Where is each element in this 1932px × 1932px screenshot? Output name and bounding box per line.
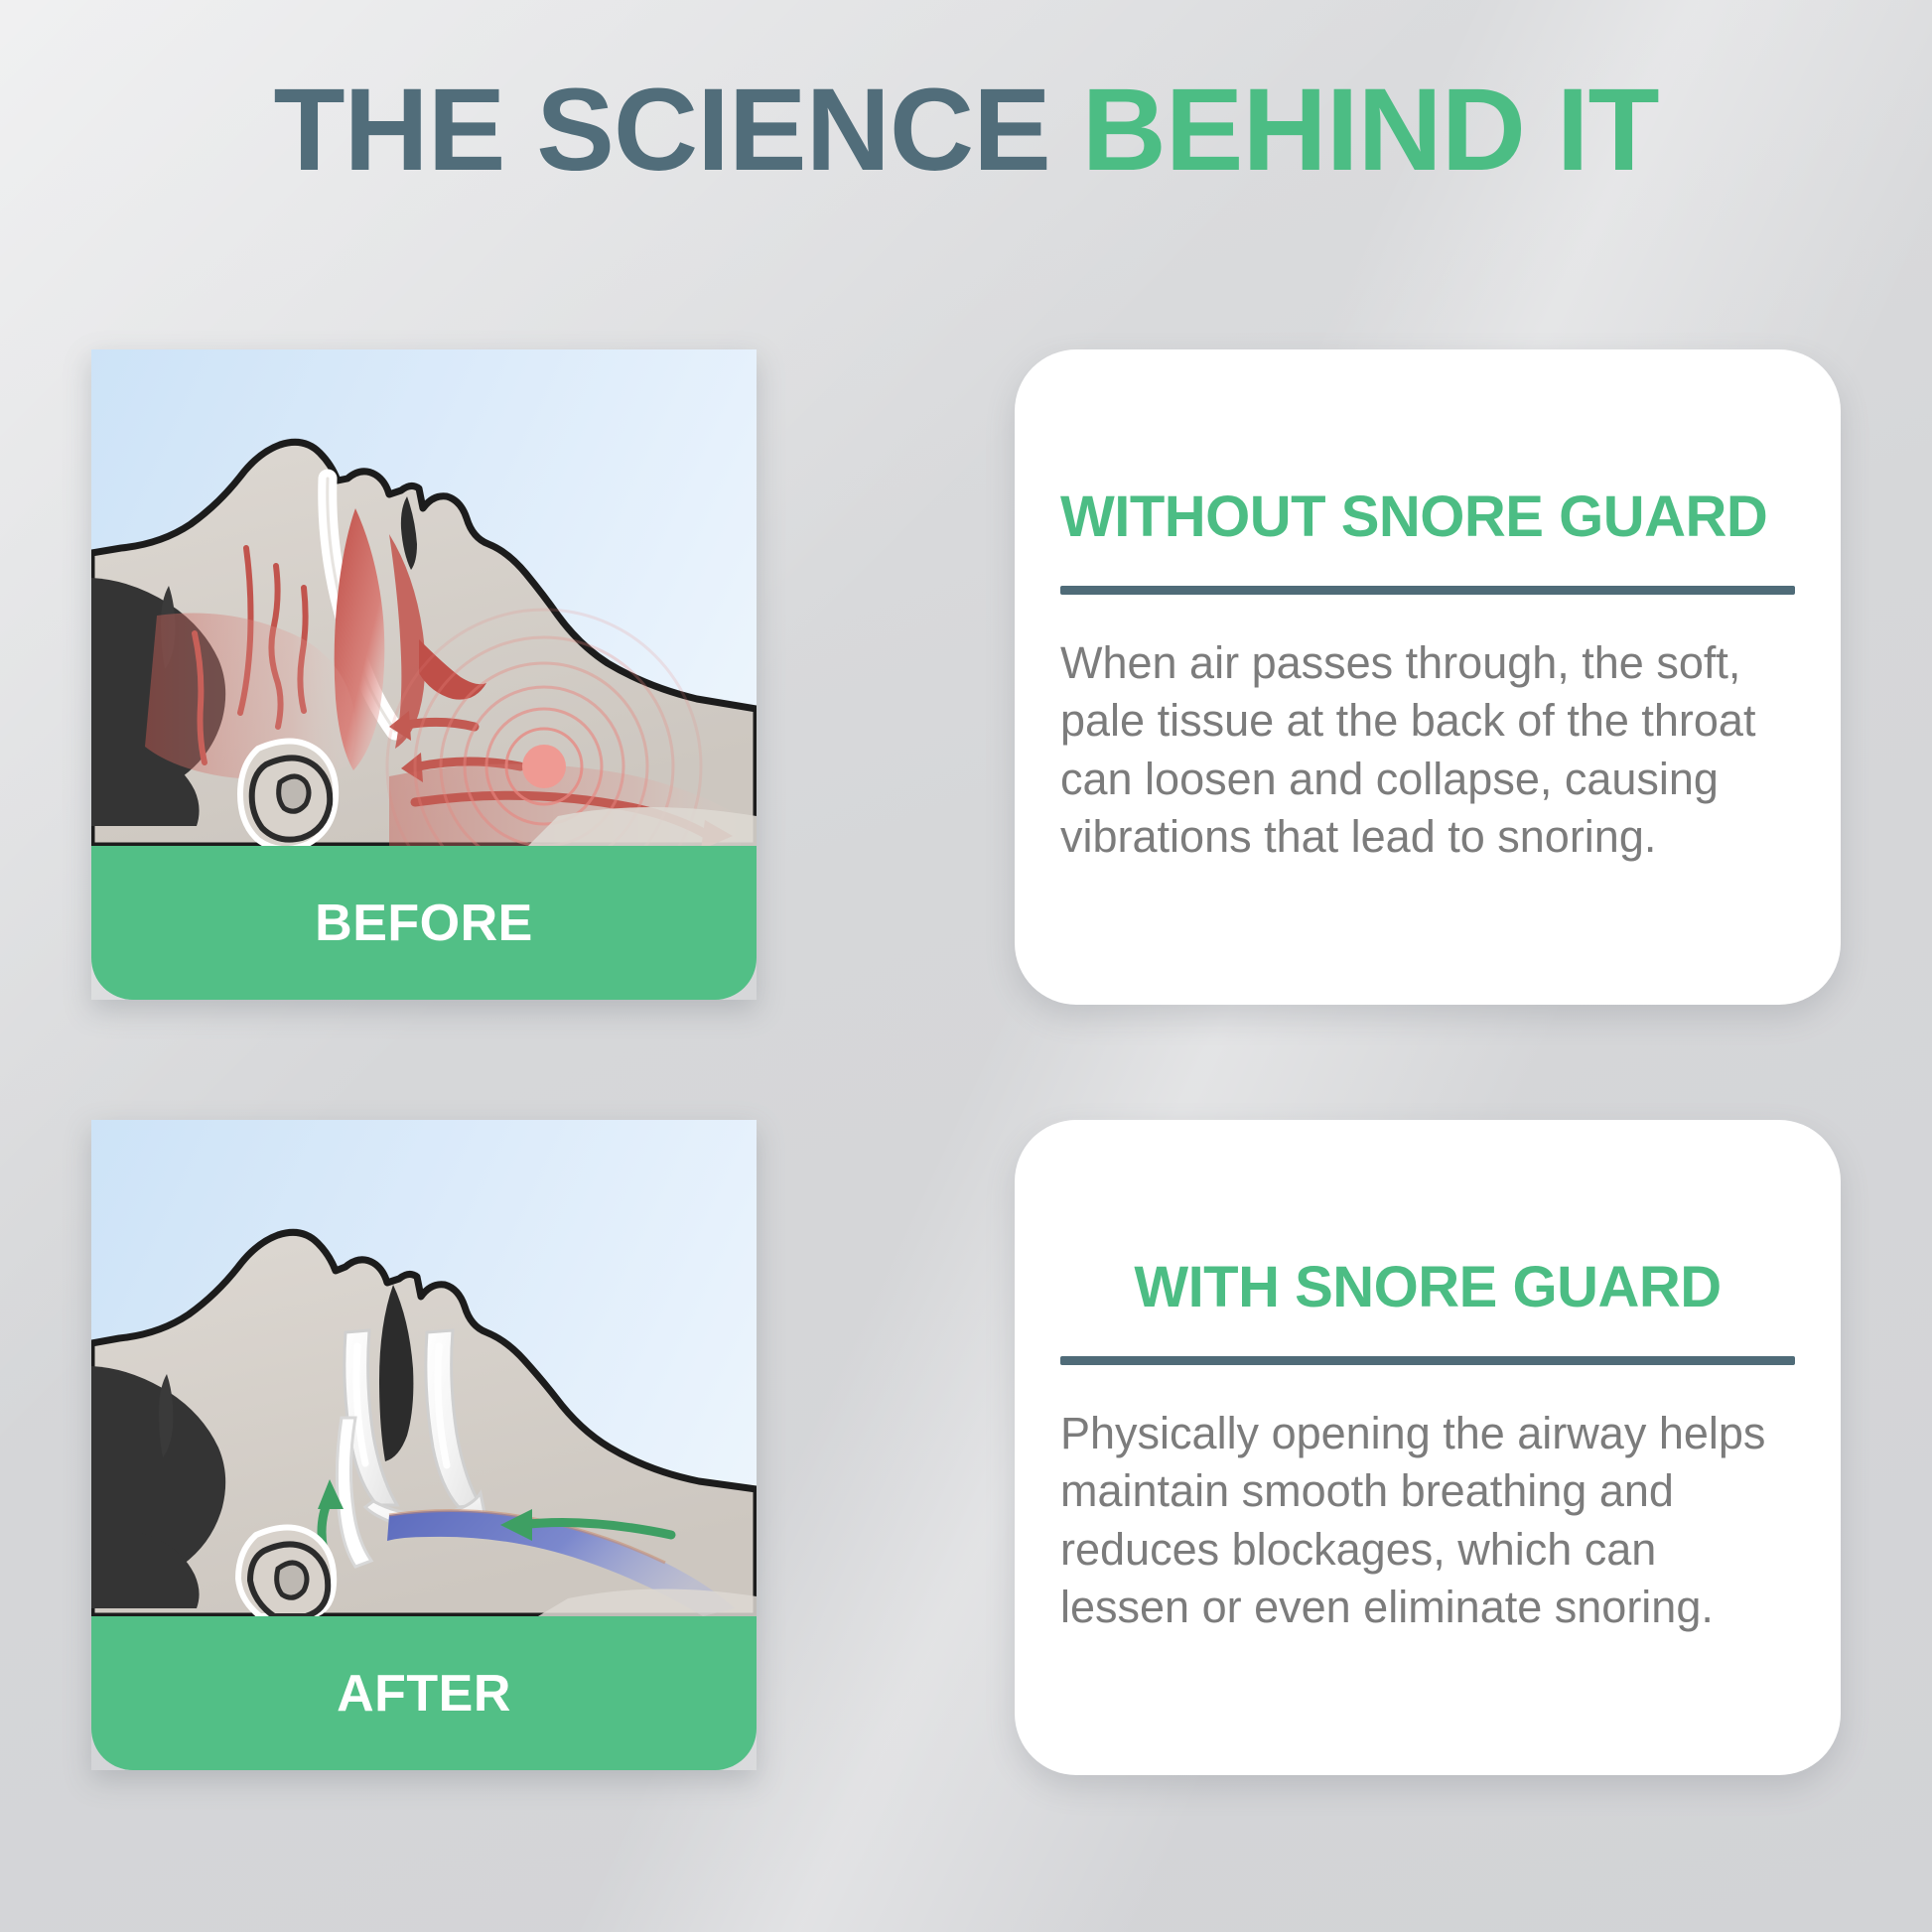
after-illustration [91, 1120, 757, 1616]
without-snore-guard-heading: WITHOUT SNORE GUARD [1060, 487, 1795, 548]
after-label-band: AFTER [91, 1616, 757, 1770]
without-snore-guard-body: When air passes through, the soft, pale … [1060, 634, 1795, 867]
page-title: THE SCIENCE BEHIND IT [0, 71, 1932, 189]
after-panel: AFTER [91, 1120, 757, 1770]
before-label: BEFORE [315, 894, 533, 953]
snoring-anatomy-diagram [91, 349, 757, 846]
with-snore-guard-heading: WITH SNORE GUARD [1060, 1258, 1795, 1318]
page-title-part-2: BEHIND IT [1082, 65, 1659, 196]
after-label: AFTER [337, 1664, 511, 1724]
card-divider-rule [1060, 1356, 1795, 1365]
with-snore-guard-card: WITH SNORE GUARD Physically opening the … [1015, 1120, 1841, 1775]
before-illustration [91, 349, 757, 846]
infographic-canvas: THE SCIENCE BEHIND IT [0, 0, 1932, 1932]
card-divider-rule [1060, 586, 1795, 595]
before-label-band: BEFORE [91, 846, 757, 1000]
without-snore-guard-card: WITHOUT SNORE GUARD When air passes thro… [1015, 349, 1841, 1005]
page-title-part-1: THE SCIENCE [273, 65, 1081, 196]
with-snore-guard-body: Physically opening the airway helps main… [1060, 1405, 1795, 1637]
snore-guard-anatomy-diagram [91, 1120, 757, 1616]
before-panel: BEFORE [91, 349, 757, 1000]
